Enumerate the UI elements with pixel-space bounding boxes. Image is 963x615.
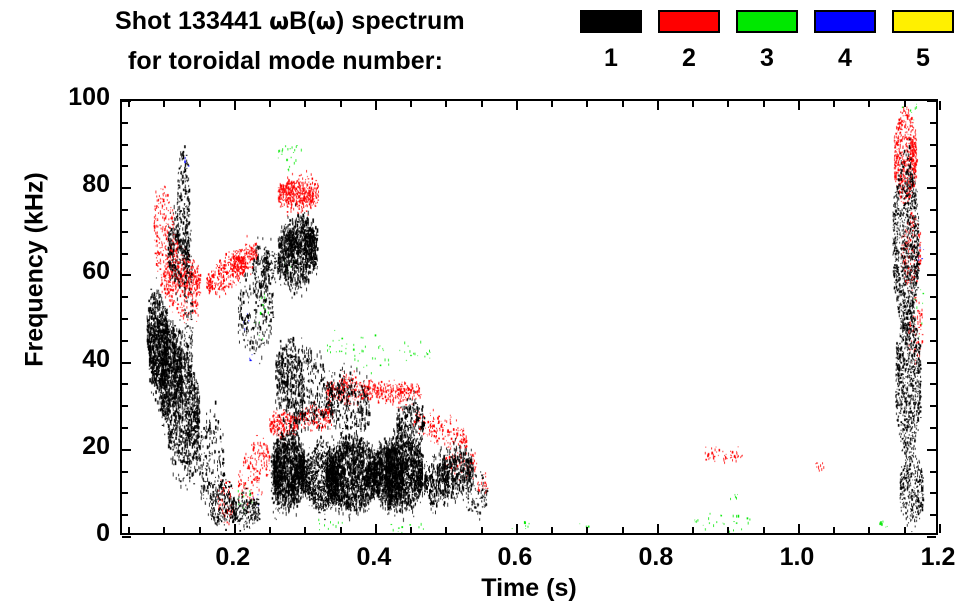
y-tick-55 xyxy=(122,296,128,298)
y-tick-75 xyxy=(930,209,936,211)
x-tick-1.20 xyxy=(939,101,941,110)
x-tick-0.85 xyxy=(692,527,694,533)
x-tick-0.40 xyxy=(375,101,377,110)
legend-swatch-4 xyxy=(814,10,876,33)
y-tick-65 xyxy=(930,253,936,255)
x-tick-0.20 xyxy=(234,101,236,110)
x-axis-tick-labels: 0.20.40.60.81.01.2 xyxy=(120,537,938,571)
omega-symbol-1: ω xyxy=(269,9,289,35)
legend-label-4: 4 xyxy=(814,46,876,71)
x-tick-0.70 xyxy=(586,527,588,533)
x-tick-0.30 xyxy=(304,101,306,107)
x-tick-0.65 xyxy=(551,527,553,533)
x-tick-1.20 xyxy=(939,524,941,533)
x-tick-0.45 xyxy=(410,101,412,107)
legend-item-2: 2 xyxy=(658,10,720,71)
x-tick-0.95 xyxy=(763,101,765,107)
y-tick-label-0: 0 xyxy=(96,521,110,546)
y-tick-70 xyxy=(122,231,128,233)
x-tick-1.00 xyxy=(798,524,800,533)
legend: 12345 xyxy=(580,10,955,88)
x-tick-0.45 xyxy=(410,527,412,533)
x-tick-0.55 xyxy=(481,527,483,533)
x-tick-0.25 xyxy=(269,527,271,533)
title-text-post: ) spectrum xyxy=(336,7,465,35)
x-tick-0.90 xyxy=(727,527,729,533)
y-tick-5 xyxy=(930,514,936,516)
y-tick-65 xyxy=(122,253,128,255)
y-tick-10 xyxy=(122,492,128,494)
x-tick-label-0.8: 0.8 xyxy=(611,545,701,570)
x-tick-0.75 xyxy=(622,101,624,107)
y-axis-title: Frequency (kHz) xyxy=(21,130,50,410)
x-tick-label-0.4: 0.4 xyxy=(329,545,419,570)
y-tick-35 xyxy=(122,383,128,385)
title-text-pre: Shot 133441 xyxy=(115,7,269,35)
y-tick-45 xyxy=(122,340,128,342)
legend-item-5: 5 xyxy=(892,10,954,71)
y-tick-label-60: 60 xyxy=(82,259,110,284)
y-tick-20 xyxy=(927,449,936,451)
legend-swatch-2 xyxy=(658,10,720,33)
y-tick-25 xyxy=(122,427,128,429)
x-tick-0.35 xyxy=(340,527,342,533)
y-tick-60 xyxy=(122,274,131,276)
legend-label-1: 1 xyxy=(580,46,642,71)
legend-label-2: 2 xyxy=(658,46,720,71)
spectrogram-figure: Shot 133441 ωB(ω) spectrum for toroidal … xyxy=(0,0,963,615)
x-tick-0.40 xyxy=(375,524,377,533)
y-tick-90 xyxy=(122,144,128,146)
x-tick-0.50 xyxy=(445,101,447,107)
legend-swatch-3 xyxy=(736,10,798,33)
plot-frame xyxy=(120,99,938,535)
y-tick-95 xyxy=(122,122,128,124)
x-tick-1.15 xyxy=(904,527,906,533)
x-tick-0.70 xyxy=(586,101,588,107)
legend-item-4: 4 xyxy=(814,10,876,71)
y-tick-50 xyxy=(930,318,936,320)
x-tick-0.90 xyxy=(727,101,729,107)
y-tick-30 xyxy=(930,405,936,407)
x-tick-0.75 xyxy=(622,527,624,533)
x-tick-0.60 xyxy=(516,101,518,110)
y-tick-85 xyxy=(122,165,128,167)
x-tick-0.50 xyxy=(445,527,447,533)
figure-title-line-2: for toroidal mode number: xyxy=(128,47,443,76)
y-tick-40 xyxy=(927,362,936,364)
y-tick-95 xyxy=(930,122,936,124)
y-tick-50 xyxy=(122,318,128,320)
x-tick-0.25 xyxy=(269,101,271,107)
x-tick-1.05 xyxy=(833,101,835,107)
x-tick-0.05 xyxy=(128,101,130,107)
y-tick-75 xyxy=(122,209,128,211)
x-tick-0.80 xyxy=(657,524,659,533)
x-tick-0.65 xyxy=(551,101,553,107)
y-tick-label-20: 20 xyxy=(82,434,110,459)
x-tick-label-0.6: 0.6 xyxy=(470,545,560,570)
y-tick-30 xyxy=(122,405,128,407)
y-tick-60 xyxy=(927,274,936,276)
legend-label-3: 3 xyxy=(736,46,798,71)
spectrogram-plot-area xyxy=(122,101,936,533)
legend-item-3: 3 xyxy=(736,10,798,71)
x-tick-label-1.0: 1.0 xyxy=(752,545,842,570)
x-tick-1.00 xyxy=(798,101,800,110)
y-tick-55 xyxy=(930,296,936,298)
legend-swatch-1 xyxy=(580,10,642,33)
x-tick-0.05 xyxy=(128,527,130,533)
y-tick-label-100: 100 xyxy=(68,85,110,110)
y-tick-5 xyxy=(122,514,128,516)
y-tick-15 xyxy=(122,471,128,473)
x-tick-label-1.2: 1.2 xyxy=(893,545,963,570)
x-tick-0.10 xyxy=(163,527,165,533)
y-tick-80 xyxy=(122,187,131,189)
x-tick-1.10 xyxy=(868,527,870,533)
legend-label-5: 5 xyxy=(892,46,954,71)
y-tick-80 xyxy=(927,187,936,189)
x-tick-0.30 xyxy=(304,527,306,533)
y-tick-90 xyxy=(930,144,936,146)
x-tick-1.05 xyxy=(833,527,835,533)
y-tick-40 xyxy=(122,362,131,364)
y-tick-25 xyxy=(930,427,936,429)
title-text-mid: B( xyxy=(289,7,316,35)
x-tick-0.15 xyxy=(199,101,201,107)
legend-item-1: 1 xyxy=(580,10,642,71)
x-tick-0.80 xyxy=(657,101,659,110)
omega-symbol-2: ω xyxy=(316,9,336,35)
x-tick-label-0.2: 0.2 xyxy=(188,545,278,570)
y-tick-label-40: 40 xyxy=(82,347,110,372)
x-tick-0.95 xyxy=(763,527,765,533)
y-tick-15 xyxy=(930,471,936,473)
y-tick-70 xyxy=(930,231,936,233)
y-tick-20 xyxy=(122,449,131,451)
y-tick-85 xyxy=(930,165,936,167)
y-tick-45 xyxy=(930,340,936,342)
figure-title-line-1: Shot 133441 ωB(ω) spectrum xyxy=(115,7,465,36)
y-tick-100 xyxy=(927,100,936,102)
x-tick-1.10 xyxy=(868,101,870,107)
x-tick-0.35 xyxy=(340,101,342,107)
x-tick-0.55 xyxy=(481,101,483,107)
x-tick-0.60 xyxy=(516,524,518,533)
legend-swatch-5 xyxy=(892,10,954,33)
x-tick-0.10 xyxy=(163,101,165,107)
x-tick-0.15 xyxy=(199,527,201,533)
y-tick-35 xyxy=(930,383,936,385)
x-tick-1.15 xyxy=(904,101,906,107)
x-axis-title: Time (s) xyxy=(120,574,938,603)
y-tick-10 xyxy=(930,492,936,494)
x-tick-0.20 xyxy=(234,524,236,533)
x-tick-0.85 xyxy=(692,101,694,107)
y-tick-label-80: 80 xyxy=(82,172,110,197)
